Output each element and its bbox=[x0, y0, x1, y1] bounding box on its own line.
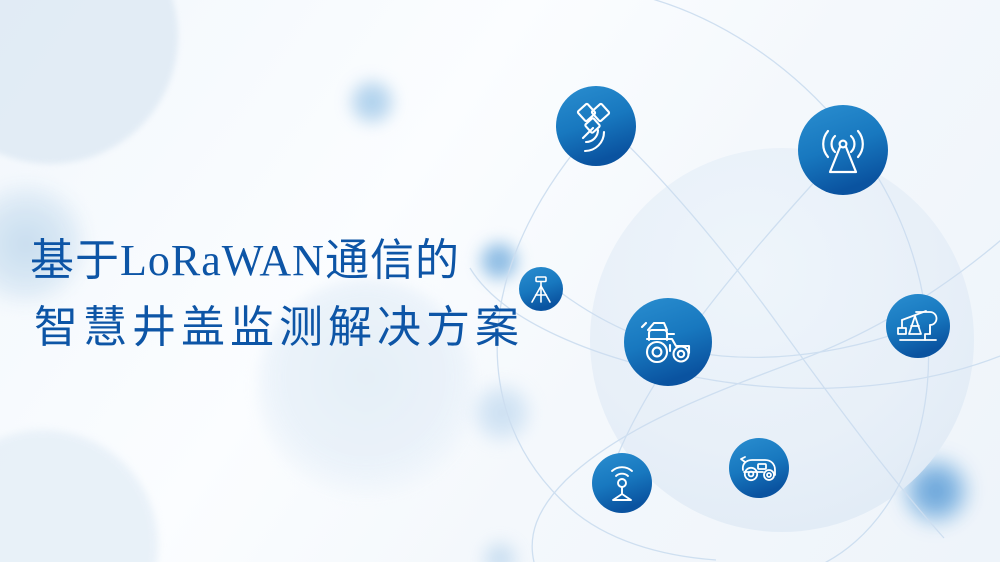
node-satellite[interactable] bbox=[556, 86, 636, 166]
node-antenna[interactable] bbox=[798, 105, 888, 195]
title-line-2: 智慧井盖监测解决方案 bbox=[30, 295, 570, 362]
node-satellite-circle[interactable] bbox=[556, 86, 636, 166]
title-line-1: 基于LoRaWAN通信的 bbox=[30, 228, 570, 295]
node-tractor-circle[interactable] bbox=[624, 298, 712, 386]
node-antenna-circle[interactable] bbox=[798, 105, 888, 195]
slide-canvas: 基于LoRaWAN通信的 智慧井盖监测解决方案 bbox=[0, 0, 1000, 562]
node-beacon-circle[interactable] bbox=[592, 453, 652, 513]
node-tractor[interactable] bbox=[624, 298, 712, 386]
node-mower[interactable] bbox=[729, 438, 789, 498]
node-mower-circle[interactable] bbox=[729, 438, 789, 498]
page-title: 基于LoRaWAN通信的 智慧井盖监测解决方案 bbox=[30, 228, 570, 362]
node-pumpjack[interactable] bbox=[886, 294, 950, 358]
node-beacon[interactable] bbox=[592, 453, 652, 513]
